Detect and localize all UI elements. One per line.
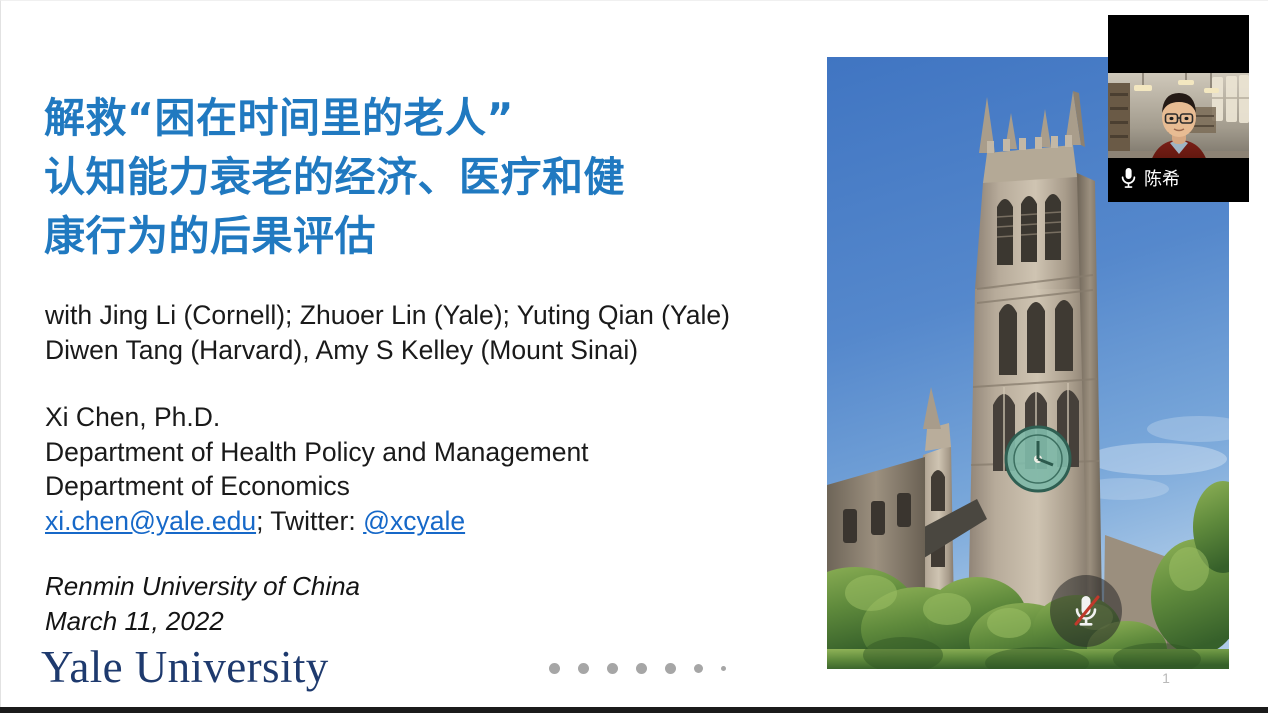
screen-share-stage: 解救“困在时间里的老人” 认知能力衰老的经济、医疗和健 康行为的后果评估 wit… [0,0,1268,713]
presenter-affiliation-1: Department of Health Policy and Manageme… [45,435,815,470]
slide-text-column: 解救“困在时间里的老人” 认知能力衰老的经济、医疗和健 康行为的后果评估 wit… [44,1,824,707]
decorative-dot-1 [549,663,560,674]
coauthors-line: with Jing Li (Cornell); Zhuoer Lin (Yale… [45,298,815,367]
email-link[interactable]: xi.chen@yale.edu [45,506,256,536]
decorative-dot-5 [665,663,676,674]
participant-name-label: 陈希 [1144,170,1180,190]
presenter-name: Xi Chen, Ph.D. [45,400,815,435]
presenter-details: Xi Chen, Ph.D. Department of Health Poli… [45,400,815,538]
decorative-dot-4 [636,663,647,674]
decorative-dot-7 [721,666,726,671]
bottom-letterbox-strip [0,707,1268,713]
presentation-slide: 解救“困在时间里的老人” 认知能力衰老的经济、医疗和健 康行为的后果评估 wit… [0,0,1268,707]
slide-number: 1 [1151,670,1181,686]
venue-and-date: Renmin University of China March 11, 202… [45,569,645,638]
presenter-contact-line: xi.chen@yale.edu; Twitter: @xcyale [45,504,815,539]
decorative-dot-2 [578,663,589,674]
decorative-dot-3 [607,663,618,674]
yale-university-wordmark: Yale University [41,641,329,693]
decorative-dot-row [549,663,726,674]
participant-nameplate: 陈希 [1108,158,1249,202]
participant-video-tile[interactable]: 陈希 [1108,15,1249,202]
twitter-link[interactable]: @xcyale [363,506,465,536]
microphone-icon [1121,167,1136,194]
presenter-affiliation-2: Department of Economics [45,469,815,504]
contact-separator: ; Twitter: [256,506,363,536]
decorative-dot-6 [694,664,703,673]
slide-title: 解救“困在时间里的老人” 认知能力衰老的经济、医疗和健 康行为的后果评估 [44,89,804,266]
microphone-muted-icon [1050,575,1122,647]
